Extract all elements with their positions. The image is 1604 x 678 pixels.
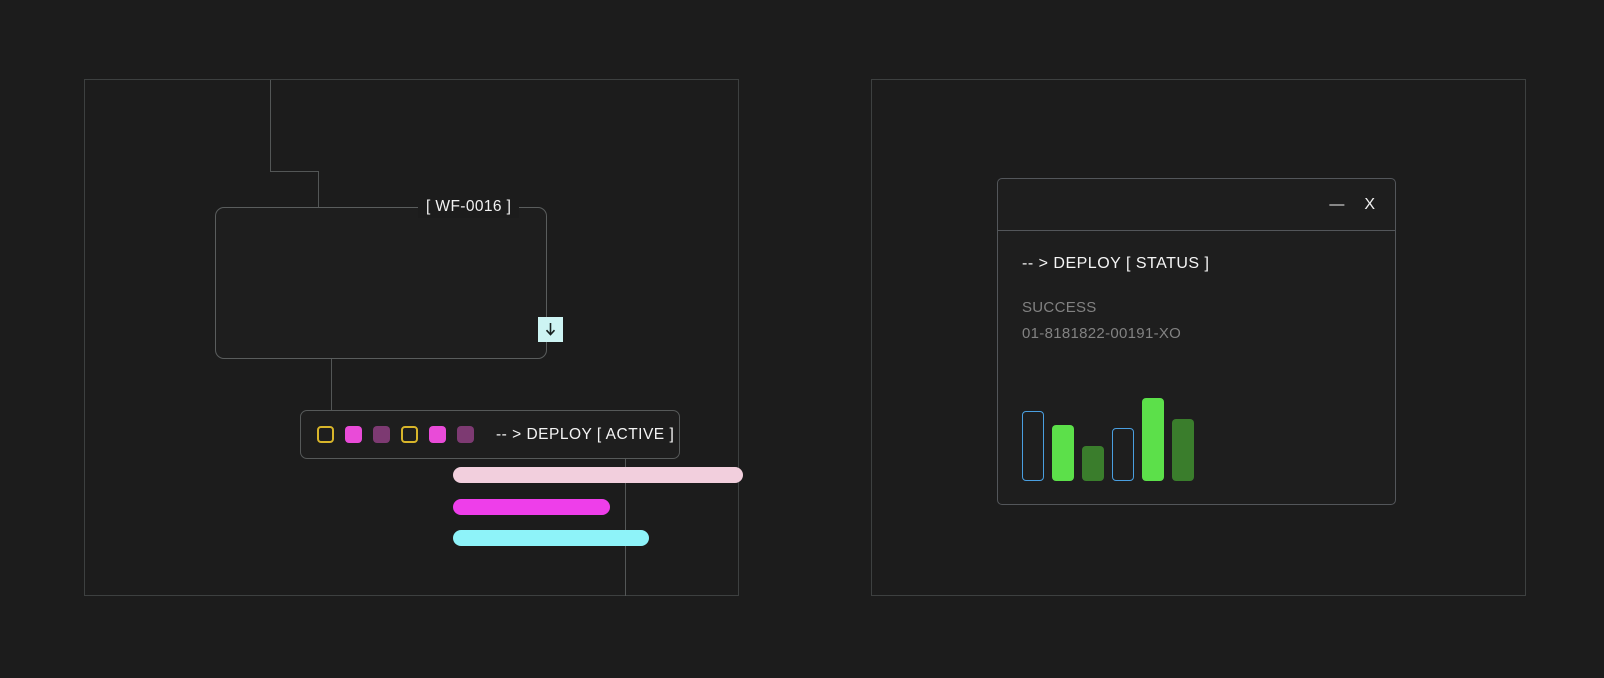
status-heading: -- > DEPLOY [ STATUS ] (1022, 255, 1371, 273)
status-window-body: -- > DEPLOY [ STATUS ] SUCCESS 01-818182… (998, 231, 1395, 347)
connector-line-top-drop (318, 171, 319, 208)
bar-bright-green (1142, 398, 1164, 481)
swatch-outline-yellow (317, 426, 334, 443)
window-titlebar: — X (998, 179, 1395, 231)
connector-line-card-to-deploy (331, 359, 332, 411)
bar-bright-green (1052, 425, 1074, 481)
swatch-magenta (345, 426, 362, 443)
swatch-plum (373, 426, 390, 443)
bar-outline-blue (1022, 411, 1044, 481)
bar-dark-green (1172, 419, 1194, 481)
connector-line-top-vertical (270, 80, 271, 171)
workflow-card[interactable] (215, 207, 547, 359)
status-window: — X -- > DEPLOY [ STATUS ] SUCCESS 01-81… (997, 178, 1396, 505)
arrow-down-icon (544, 322, 557, 337)
swatch-plum (457, 426, 474, 443)
workflow-card-label: [ WF-0016 ] (418, 196, 519, 218)
bar-outline-blue (1112, 428, 1134, 481)
reference-id: 01-8181822-00191-XO (1022, 321, 1371, 347)
deploy-bar-chart (1022, 391, 1352, 481)
status-badge: SUCCESS (1022, 295, 1371, 321)
pill-accent (453, 499, 610, 515)
swatch-magenta (429, 426, 446, 443)
download-button[interactable] (538, 317, 563, 342)
deploy-status-bar[interactable]: -- > DEPLOY [ ACTIVE ] (300, 410, 680, 459)
pill-primary (453, 467, 743, 483)
swatch-outline-yellow (401, 426, 418, 443)
deploy-status-label: -- > DEPLOY [ ACTIVE ] (496, 426, 674, 444)
minimize-icon[interactable]: — (1329, 197, 1344, 212)
bar-dark-green (1082, 446, 1104, 481)
pill-info (453, 530, 649, 546)
connector-line-top-horizontal (270, 171, 319, 172)
close-icon[interactable]: X (1364, 197, 1375, 213)
